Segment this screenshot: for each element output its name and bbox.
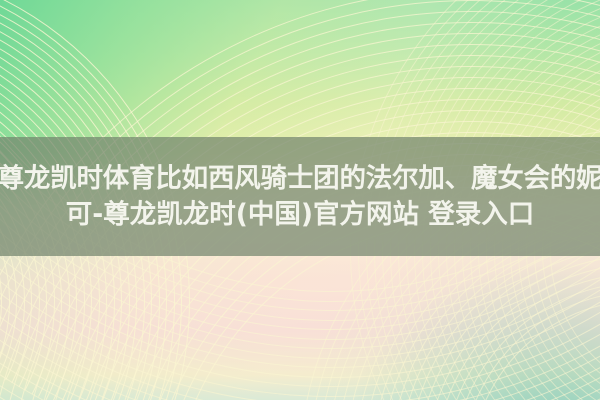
caption-line-2: 可-尊龙凯龙时(中国)官方网站 登录入口: [66, 197, 534, 232]
caption-line-1: 尊龙凯时体育比如西风骑士团的法尔加、魔女会的妮: [0, 161, 600, 196]
decorative-text-banner: 尊龙凯时体育比如西风骑士团的法尔加、魔女会的妮 可-尊龙凯龙时(中国)官方网站 …: [0, 0, 600, 400]
caption-band: 尊龙凯时体育比如西风骑士团的法尔加、魔女会的妮 可-尊龙凯龙时(中国)官方网站 …: [0, 137, 600, 256]
background-teal-corner-glow: [320, 240, 600, 400]
